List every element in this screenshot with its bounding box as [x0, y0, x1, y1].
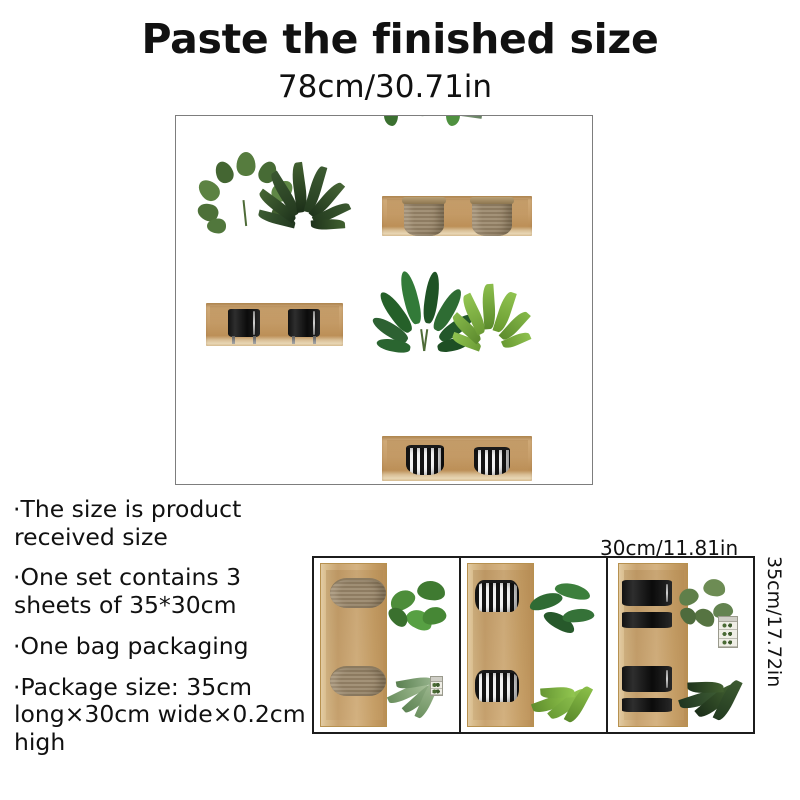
leaf: [384, 115, 399, 126]
list-item: ·Package size: 35cm long×30cm wide×0.2cm…: [14, 674, 314, 757]
list-item: ·One bag packaging: [14, 633, 314, 661]
leaf: [677, 604, 699, 627]
instruction-sticker: [718, 616, 738, 648]
finished-width-label: 78cm/30.71in: [175, 70, 595, 104]
pot-striped: [475, 580, 519, 612]
pot-woven-basket: [404, 200, 444, 236]
shelf-middle: [206, 226, 343, 346]
frond: [498, 115, 540, 116]
leaf: [421, 605, 448, 627]
pot-highlight: [666, 584, 668, 603]
sheet-preview-row: [312, 556, 755, 734]
list-item: ·One set contains 3 sheets of 35*30cm: [14, 564, 314, 619]
instruction-sticker: [430, 676, 443, 696]
sheet-height-label: 35cm/17.72in: [763, 556, 785, 766]
shelf-bottom: [382, 351, 532, 481]
sheet-panel[interactable]: [314, 558, 461, 732]
frond: [311, 218, 346, 230]
stem: [423, 329, 428, 351]
pot-woven-basket: [472, 200, 512, 236]
plant-palm-frond: [374, 650, 461, 724]
plant-asparagus-fern: [517, 654, 608, 728]
pot-rim: [402, 197, 446, 204]
pot-highlight: [313, 311, 315, 335]
pot-striped: [474, 447, 510, 475]
pot-black-cylinder: [288, 309, 320, 337]
pot-highlight: [253, 311, 255, 335]
stem: [242, 200, 246, 226]
pot-leg: [232, 336, 235, 344]
pot-striped: [406, 445, 444, 475]
leaf: [416, 579, 446, 602]
pot-leg: [292, 336, 295, 344]
product-details-list: ·The size is product received size ·One …: [14, 496, 314, 770]
list-item: ·The size is product received size: [14, 496, 314, 551]
pot-black-cylinder: [622, 612, 672, 628]
leaf: [237, 152, 256, 176]
leaf: [446, 115, 461, 126]
frond: [687, 681, 723, 693]
leaf: [702, 577, 727, 598]
infographic-root: Paste the finished size 78cm/30.71in 84c…: [0, 0, 800, 800]
pot-rim: [470, 197, 514, 204]
finished-size-preview: [175, 115, 593, 485]
leaf: [207, 219, 226, 234]
pot-black-cylinder: [622, 666, 672, 692]
stem: [421, 115, 428, 116]
wooden-shelf: [206, 303, 343, 346]
pot-black-cylinder: [622, 698, 672, 712]
sticker-cell: [719, 622, 737, 630]
sticker-cell: [719, 639, 737, 647]
pot-black-cylinder: [622, 580, 672, 606]
plant-fiddle-leaf-fig: [670, 568, 750, 634]
pot-leg: [253, 336, 256, 344]
page-title: Paste the finished size: [0, 18, 800, 61]
pot-striped: [475, 670, 519, 702]
sheet-panel[interactable]: [461, 558, 608, 732]
sticker-cell: [719, 630, 737, 638]
plant-dark-palm: [666, 650, 753, 726]
leaf: [562, 607, 595, 623]
pot-black-cylinder: [228, 309, 260, 337]
sheet-panel[interactable]: [608, 558, 753, 732]
shelf-top: [382, 116, 532, 236]
plant-broad-leaf: [517, 566, 607, 638]
leaf: [676, 585, 701, 608]
sticker-cell: [431, 689, 442, 696]
leaf: [212, 159, 236, 186]
plant-monstera: [376, 568, 460, 634]
pot-leg: [313, 336, 316, 344]
